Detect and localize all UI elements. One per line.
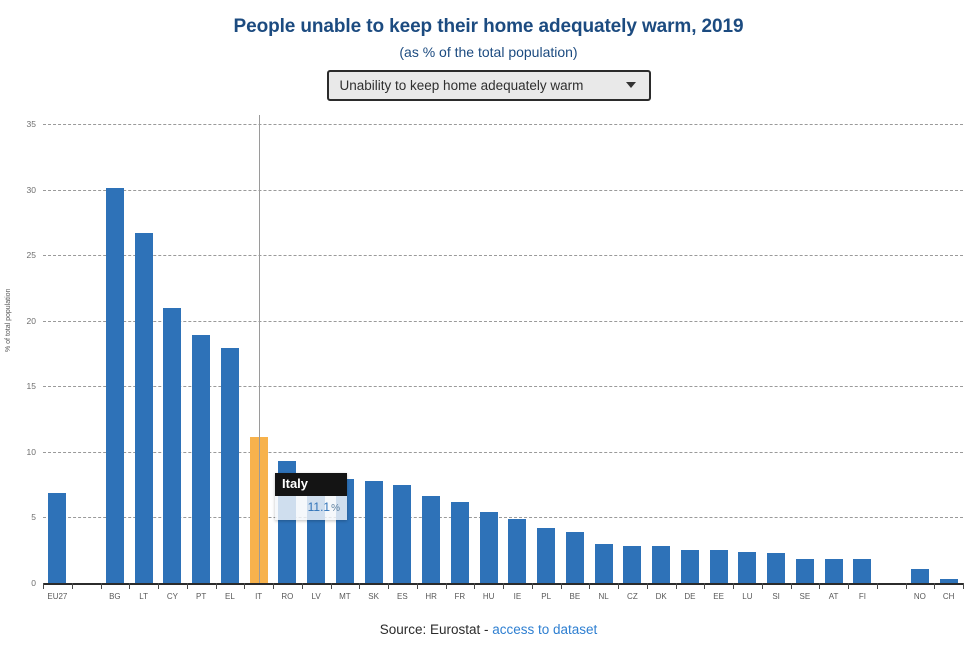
x-tick-label: BG — [109, 592, 121, 601]
bar-group[interactable] — [595, 124, 613, 583]
bar[interactable] — [595, 544, 613, 583]
y-axis-title: % of total population — [5, 289, 12, 352]
indicator-select-wrap: Unability to keep home adequately warm — [0, 70, 977, 101]
x-tick-label: PT — [196, 592, 206, 601]
x-tick — [963, 583, 964, 589]
x-tick — [273, 583, 274, 589]
tooltip: Italy 11.1% — [275, 473, 347, 520]
x-tick — [762, 583, 763, 589]
bar[interactable] — [451, 502, 469, 583]
x-tick — [877, 583, 878, 589]
bar-group[interactable] — [48, 124, 66, 583]
bar-group[interactable] — [537, 124, 555, 583]
bar-group[interactable] — [135, 124, 153, 583]
x-tick — [704, 583, 705, 589]
x-tick — [331, 583, 332, 589]
y-tick-label: 5 — [31, 512, 36, 522]
x-tick — [848, 583, 849, 589]
x-tick-label: LT — [139, 592, 148, 601]
bar[interactable] — [853, 559, 871, 583]
x-tick-label: PL — [541, 592, 551, 601]
x-tick-label: DE — [684, 592, 695, 601]
x-tick — [618, 583, 619, 589]
bar-group[interactable] — [508, 124, 526, 583]
x-tick — [302, 583, 303, 589]
bar[interactable] — [221, 348, 239, 583]
x-tick — [72, 583, 73, 589]
x-tick-label: SI — [772, 592, 780, 601]
indicator-select[interactable]: Unability to keep home adequately warm — [327, 70, 651, 101]
bar-group[interactable] — [681, 124, 699, 583]
dataset-link[interactable]: access to dataset — [492, 622, 597, 637]
chevron-down-icon[interactable] — [626, 82, 636, 88]
x-tick — [101, 583, 102, 589]
bar[interactable] — [710, 550, 728, 583]
x-tick — [244, 583, 245, 589]
bar-group[interactable] — [221, 124, 239, 583]
x-tick-label: ES — [397, 592, 408, 601]
tooltip-value: 11.1 — [308, 500, 330, 514]
bar-group[interactable] — [106, 124, 124, 583]
bar[interactable] — [825, 559, 843, 583]
bar-group[interactable] — [738, 124, 756, 583]
bar-group[interactable] — [911, 124, 929, 583]
y-tick-label: 35 — [27, 119, 36, 129]
x-tick-label: LU — [742, 592, 752, 601]
x-tick — [532, 583, 533, 589]
bar-group[interactable] — [940, 124, 958, 583]
x-tick — [216, 583, 217, 589]
x-tick-label: NL — [599, 592, 609, 601]
bar-group[interactable] — [451, 124, 469, 583]
x-tick — [819, 583, 820, 589]
x-tick-label: AT — [829, 592, 839, 601]
x-tick-label: HR — [425, 592, 437, 601]
x-tick — [417, 583, 418, 589]
bar-group[interactable] — [192, 124, 210, 583]
chart-header: People unable to keep their home adequat… — [0, 0, 977, 61]
y-tick-label: 10 — [27, 447, 36, 457]
bar[interactable] — [508, 519, 526, 583]
x-tick — [388, 583, 389, 589]
x-tick — [647, 583, 648, 589]
bar[interactable] — [940, 579, 958, 583]
tooltip-unit: % — [331, 503, 340, 514]
bar[interactable] — [365, 481, 383, 583]
bar[interactable] — [738, 552, 756, 583]
x-tick — [561, 583, 562, 589]
x-tick-label: EU27 — [47, 592, 67, 601]
x-tick-label: CZ — [627, 592, 638, 601]
bar-group[interactable] — [393, 124, 411, 583]
x-tick-label: FR — [455, 592, 466, 601]
x-tick-label: DK — [656, 592, 667, 601]
x-tick — [676, 583, 677, 589]
x-tick-label: IT — [255, 592, 262, 601]
bar[interactable] — [135, 233, 153, 583]
x-tick — [446, 583, 447, 589]
bar[interactable] — [652, 546, 670, 583]
bars-layer: EU27BGLTCYPTELITROLVMTSKESHRFRHUIEPLBENL… — [43, 124, 963, 583]
bar-group[interactable] — [623, 124, 641, 583]
x-tick-label: CH — [943, 592, 955, 601]
chart-subtitle: (as % of the total population) — [0, 44, 977, 61]
x-tick — [733, 583, 734, 589]
indicator-select-label: Unability to keep home adequately warm — [329, 78, 584, 93]
x-tick-label: SK — [368, 592, 379, 601]
bar[interactable] — [163, 308, 181, 583]
x-tick — [129, 583, 130, 589]
bar[interactable] — [566, 532, 584, 583]
x-tick-label: NO — [914, 592, 926, 601]
x-tick — [589, 583, 590, 589]
y-tick-label: 20 — [27, 316, 36, 326]
bar[interactable] — [480, 512, 498, 583]
bar[interactable] — [192, 335, 210, 583]
x-tick-label: RO — [281, 592, 293, 601]
x-tick-label: EE — [713, 592, 724, 601]
bar-group[interactable] — [853, 124, 871, 583]
x-tick — [187, 583, 188, 589]
bar-group[interactable] — [566, 124, 584, 583]
bar[interactable] — [106, 188, 124, 583]
bar-group[interactable] — [365, 124, 383, 583]
y-tick-label: 25 — [27, 250, 36, 260]
x-tick — [43, 583, 44, 589]
x-tick — [359, 583, 360, 589]
bar[interactable] — [681, 550, 699, 583]
x-tick-label: CY — [167, 592, 178, 601]
bar-group[interactable] — [422, 124, 440, 583]
bar-group[interactable] — [652, 124, 670, 583]
bar[interactable] — [623, 546, 641, 583]
x-tick — [934, 583, 935, 589]
bar[interactable] — [537, 528, 555, 583]
y-tick-label: 30 — [27, 185, 36, 195]
source-note: Source: Eurostat - access to dataset — [0, 622, 977, 637]
x-tick-label: HU — [483, 592, 495, 601]
y-tick-label: 0 — [31, 578, 36, 588]
bar[interactable] — [393, 485, 411, 583]
x-tick-label: IE — [514, 592, 522, 601]
x-tick-label: BE — [570, 592, 581, 601]
bar-group[interactable] — [710, 124, 728, 583]
bar[interactable] — [911, 569, 929, 583]
y-tick-label: 15 — [27, 381, 36, 391]
x-tick — [474, 583, 475, 589]
selection-marker-line — [259, 115, 260, 583]
bar-group[interactable] — [796, 124, 814, 583]
bar-group[interactable] — [825, 124, 843, 583]
x-tick-label: MT — [339, 592, 351, 601]
x-tick-label: SE — [800, 592, 811, 601]
x-tick-label: FI — [859, 592, 866, 601]
x-tick — [906, 583, 907, 589]
bar-group[interactable] — [480, 124, 498, 583]
bar[interactable] — [796, 559, 814, 583]
bar[interactable] — [48, 493, 66, 583]
x-tick — [791, 583, 792, 589]
page-title: People unable to keep their home adequat… — [0, 16, 977, 39]
x-tick — [158, 583, 159, 589]
source-prefix: Source: Eurostat - — [380, 622, 493, 637]
bar[interactable] — [422, 496, 440, 583]
tooltip-country: Italy — [275, 473, 347, 496]
bar[interactable] — [767, 553, 785, 583]
x-tick-label: EL — [225, 592, 235, 601]
bar-group[interactable] — [767, 124, 785, 583]
x-tick — [503, 583, 504, 589]
bar-group[interactable] — [163, 124, 181, 583]
tooltip-value-row: 11.1% — [275, 496, 347, 520]
x-tick-label: LV — [312, 592, 321, 601]
